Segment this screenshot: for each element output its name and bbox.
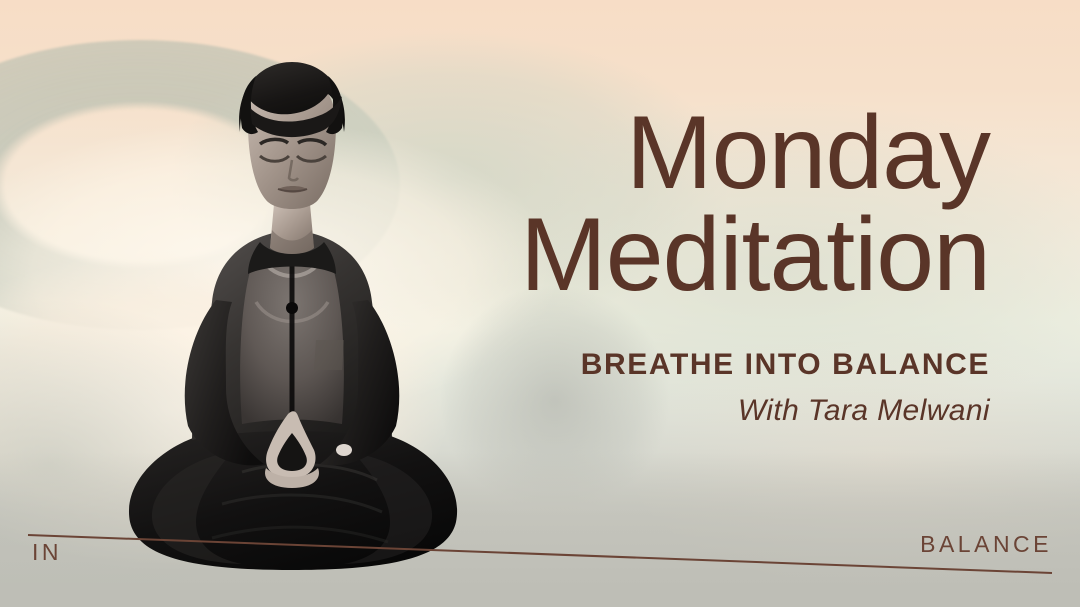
- presenter-byline: With Tara Melwani: [430, 394, 990, 428]
- title-line-one: Monday: [430, 104, 990, 204]
- headline-block: Monday Meditation BREATHE INTO BALANCE W…: [430, 104, 990, 428]
- footer-word-balance: BALANCE: [920, 531, 1052, 558]
- meditation-poster: Monday Meditation BREATHE INTO BALANCE W…: [0, 0, 1080, 607]
- footer-word-in: IN: [32, 539, 62, 566]
- title-line-two: Meditation: [430, 206, 990, 306]
- subtitle: BREATHE INTO BALANCE: [430, 348, 990, 382]
